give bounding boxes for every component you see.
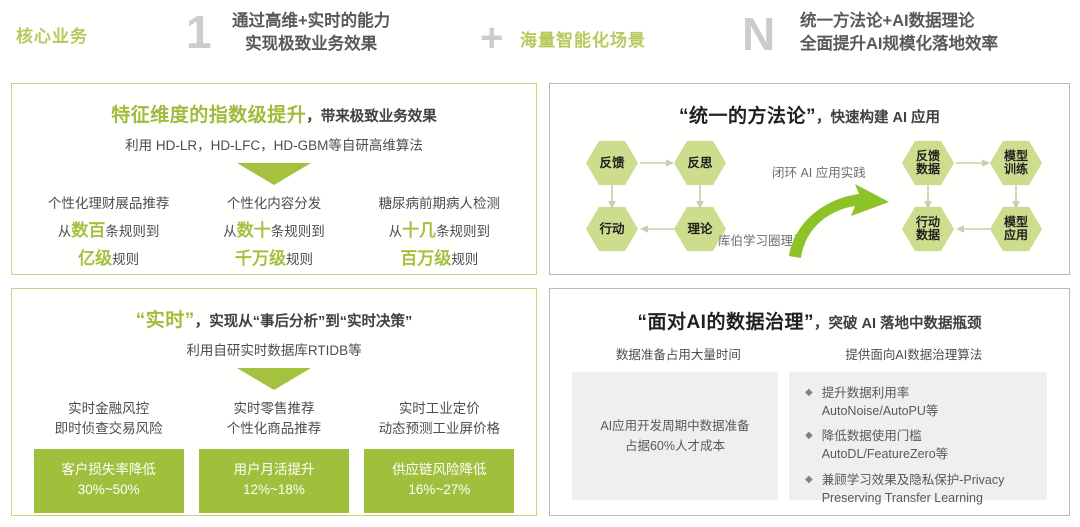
governance-bullet-box: ◆ 提升数据利用率 AutoNoise/AutoPU等 ◆ 降低数据使用门槛 A… bbox=[789, 372, 1047, 500]
feature-column-rule: 从数十条规则到 千万级规则 bbox=[192, 217, 355, 272]
rule-from-prefix: 从 bbox=[58, 224, 72, 239]
diamond-bullet-icon: ◆ bbox=[805, 471, 813, 507]
diamond-bullet-icon: ◆ bbox=[805, 427, 813, 463]
realtime-column-title-line2: 个性化商品推荐 bbox=[192, 419, 355, 439]
arrow-right-icon bbox=[638, 156, 676, 170]
hex-node-model-training[interactable]: 模型训练 bbox=[990, 140, 1042, 186]
feature-column-rule: 从数百条规则到 亿级规则 bbox=[27, 217, 190, 272]
panel-realtime-heading: “实时”，实现从“事后分析”到“实时决策” bbox=[12, 305, 536, 332]
panel-methodology: “统一的方法论”，快速构建 AI 应用 反馈 反思 行动 理论 bbox=[549, 83, 1070, 275]
realtime-column: 实时零售推荐 个性化商品推荐 用户月活提升 12%~18% bbox=[192, 399, 355, 513]
hex-node-reflect[interactable]: 反思 bbox=[674, 140, 726, 186]
panel-governance-heading-strong: “面对AI的数据治理” bbox=[637, 312, 814, 333]
header-numeral-one-text: 1 bbox=[186, 9, 212, 55]
feature-column: 个性化内容分发 从数十条规则到 千万级规则 bbox=[192, 194, 355, 272]
realtime-column: 实时金融风控 即时侦查交易风险 客户损失率降低 30%~50% bbox=[27, 399, 190, 513]
hex-node-model-training-line2: 训练 bbox=[1004, 162, 1028, 176]
panel-methodology-heading-strong: “统一的方法论” bbox=[679, 106, 816, 127]
panel-feature-subheading: 利用 HD-LR，HD-LFC，HD-GBM等自研高维算法 bbox=[12, 134, 536, 154]
governance-subheadings: 数据准备占用大量时间 提供面向AI数据治理算法 bbox=[550, 344, 1069, 363]
hex-node-action-data[interactable]: 行动数据 bbox=[902, 206, 954, 252]
hex-node-action-data-line2: 数据 bbox=[916, 228, 940, 242]
feature-column-title: 个性化理财展品推荐 bbox=[27, 194, 190, 214]
bullet-item: ◆ 兼顾学习效果及隐私保护-Privacy Preserving Transfe… bbox=[805, 471, 1037, 507]
arrow-down-icon bbox=[605, 184, 619, 210]
bullet-text: 提升数据利用率 AutoNoise/AutoPU等 bbox=[822, 384, 939, 420]
realtime-column-title-line1: 实时工业定价 bbox=[358, 399, 521, 419]
panel-methodology-heading-rest: ，快速构建 AI 应用 bbox=[816, 110, 940, 126]
curved-arrow-up-right-icon bbox=[785, 182, 895, 262]
bullet-item: ◆ 提升数据利用率 AutoNoise/AutoPU等 bbox=[805, 384, 1037, 420]
header-numeral-one: 1 bbox=[186, 9, 212, 55]
hex-node-action-data-line1: 行动 bbox=[916, 215, 940, 229]
arrow-left-icon bbox=[954, 222, 992, 236]
header-scenarios-label: 海量智能化场景 bbox=[520, 26, 646, 51]
feature-column-title: 个性化内容分发 bbox=[192, 194, 355, 214]
panel-realtime-heading-strong: “实时” bbox=[136, 310, 195, 331]
rule-from-suffix: 条规则到 bbox=[436, 224, 490, 239]
feature-column: 糖尿病前期病人检测 从十几条规则到 百万级规则 bbox=[358, 194, 521, 272]
panel-realtime: “实时”，实现从“事后分析”到“实时决策” 利用自研实时数据库RTIDB等 实时… bbox=[11, 288, 537, 516]
hex-node-model-apply-line1: 模型 bbox=[1004, 215, 1028, 229]
bullet-text: 兼顾学习效果及隐私保护-Privacy Preserving Transfer … bbox=[822, 471, 1005, 507]
rule-to-big: 百万级 bbox=[400, 249, 451, 268]
header-core-business: 核心业务 bbox=[16, 22, 88, 47]
panel-governance-heading-rest: ，突破 AI 落地中数据瓶颈 bbox=[814, 316, 982, 332]
rule-to-suffix: 规则 bbox=[112, 252, 139, 267]
chip-value: 30%~50% bbox=[38, 480, 180, 501]
arrow-down-icon bbox=[1009, 184, 1023, 210]
down-triangle-icon bbox=[237, 163, 311, 185]
header-methodology-line2: 全面提升AI规模化落地效率 bbox=[800, 33, 998, 56]
down-triangle-icon bbox=[237, 368, 311, 390]
governance-subhead-right: 提供面向AI数据治理算法 bbox=[785, 344, 1043, 363]
header-methodology-text: 统一方法论+AI数据理论 全面提升AI规模化落地效率 bbox=[800, 10, 998, 57]
panel-data-governance: “面对AI的数据治理”，突破 AI 落地中数据瓶颈 数据准备占用大量时间 提供面… bbox=[549, 288, 1070, 516]
panel-methodology-heading: “统一的方法论”，快速构建 AI 应用 bbox=[550, 101, 1069, 128]
header-methodology-line1: 统一方法论+AI数据理论 bbox=[800, 10, 998, 33]
panel-realtime-heading-rest: ，实现从“事后分析”到“实时决策” bbox=[195, 314, 413, 330]
hex-node-reflect-label: 反思 bbox=[687, 156, 712, 170]
chip-label: 用户月活提升 bbox=[203, 460, 345, 481]
arrow-down-icon bbox=[693, 184, 707, 210]
chip-label: 客户损失率降低 bbox=[38, 460, 180, 481]
arrow-left-icon bbox=[638, 222, 676, 236]
methodology-flow-diagram: 反馈 反思 行动 理论 bbox=[550, 134, 1069, 260]
slide-root: 核心业务 1 通过高维+实时的能力 实现极致业务效果 + 海量智能化场景 N 统… bbox=[0, 0, 1080, 527]
realtime-column-title-line2: 动态预测工业屏价格 bbox=[358, 419, 521, 439]
hex-node-feedback-data[interactable]: 反馈数据 bbox=[902, 140, 954, 186]
hex-node-feedback[interactable]: 反馈 bbox=[586, 140, 638, 186]
hex-node-theory-label: 理论 bbox=[687, 222, 712, 236]
header-numeral-n: N bbox=[742, 11, 775, 57]
header-numeral-n-text: N bbox=[742, 11, 775, 57]
panel-feature-heading-strong: 特征维度的指数级提升 bbox=[111, 105, 306, 126]
hex-node-feedback-data-line2: 数据 bbox=[916, 162, 940, 176]
realtime-column: 实时工业定价 动态预测工业屏价格 供应链风险降低 16%~27% bbox=[358, 399, 521, 513]
rule-from-suffix: 条规则到 bbox=[271, 224, 325, 239]
header-capability-line1: 通过高维+实时的能力 bbox=[232, 10, 390, 33]
governance-content-boxes: AI应用开发周期中数据准备 占据60%人才成本 ◆ 提升数据利用率 AutoNo… bbox=[550, 372, 1069, 500]
header-capability-line2: 实现极致业务效果 bbox=[232, 33, 390, 56]
bullet-item: ◆ 降低数据使用门槛 AutoDL/FeatureZero等 bbox=[805, 427, 1037, 463]
panel-feature-heading: 特征维度的指数级提升，带来极致业务效果 bbox=[12, 100, 536, 127]
realtime-result-chip: 供应链风险降低 16%~27% bbox=[364, 449, 514, 514]
header-bar: 核心业务 1 通过高维+实时的能力 实现极致业务效果 + 海量智能化场景 N 统… bbox=[0, 0, 1080, 72]
hex-node-model-apply-line2: 应用 bbox=[1004, 228, 1028, 242]
panel-feature-heading-rest: ，带来极致业务效果 bbox=[306, 109, 437, 125]
rule-to-suffix: 规则 bbox=[451, 252, 478, 267]
hex-node-action-label: 行动 bbox=[599, 222, 624, 236]
panel-realtime-subheading: 利用自研实时数据库RTIDB等 bbox=[12, 339, 536, 359]
realtime-result-chip: 客户损失率降低 30%~50% bbox=[34, 449, 184, 514]
chip-value: 12%~18% bbox=[203, 480, 345, 501]
header-scenarios: 海量智能化场景 bbox=[520, 26, 646, 51]
panel-feature-dimension: 特征维度的指数级提升，带来极致业务效果 利用 HD-LR，HD-LFC，HD-G… bbox=[11, 83, 537, 275]
rule-to-suffix: 规则 bbox=[286, 252, 313, 267]
rule-to-big: 亿级 bbox=[78, 249, 112, 268]
chip-value: 16%~27% bbox=[368, 480, 510, 501]
chip-label: 供应链风险降低 bbox=[368, 460, 510, 481]
closed-loop-caption: 闭环 AI 应用实践 bbox=[772, 162, 866, 181]
hex-node-action[interactable]: 行动 bbox=[586, 206, 638, 252]
feature-column-title: 糖尿病前期病人检测 bbox=[358, 194, 521, 214]
realtime-column-title-line1: 实时金融风控 bbox=[27, 399, 190, 419]
rule-from-prefix: 从 bbox=[223, 224, 237, 239]
plus-icon-glyph: + bbox=[480, 18, 503, 58]
rule-from-big: 数十 bbox=[237, 221, 271, 240]
governance-subhead-left: 数据准备占用大量时间 bbox=[576, 344, 781, 363]
realtime-column-title-line1: 实时零售推荐 bbox=[192, 399, 355, 419]
rule-from-big: 数百 bbox=[71, 221, 105, 240]
realtime-column-title-line2: 即时侦查交易风险 bbox=[27, 419, 190, 439]
plus-icon: + bbox=[480, 18, 503, 58]
hex-node-model-apply[interactable]: 模型应用 bbox=[990, 206, 1042, 252]
rule-to-big: 千万级 bbox=[235, 249, 286, 268]
header-capability-text: 通过高维+实时的能力 实现极致业务效果 bbox=[232, 10, 390, 57]
panel-realtime-columns: 实时金融风控 即时侦查交易风险 客户损失率降低 30%~50% 实时零售推荐 个… bbox=[12, 399, 536, 513]
rule-from-big: 十几 bbox=[402, 221, 436, 240]
rule-from-suffix: 条规则到 bbox=[105, 224, 159, 239]
panel-feature-columns: 个性化理财展品推荐 从数百条规则到 亿级规则 个性化内容分发 从数十条规则到 千… bbox=[12, 194, 536, 272]
bullet-text: 降低数据使用门槛 AutoDL/FeatureZero等 bbox=[822, 427, 948, 463]
feature-column-rule: 从十几条规则到 百万级规则 bbox=[358, 217, 521, 272]
governance-stat-text: AI应用开发周期中数据准备 占据60%人才成本 bbox=[600, 416, 749, 457]
diamond-bullet-icon: ◆ bbox=[805, 384, 813, 420]
hex-node-model-training-line1: 模型 bbox=[1004, 149, 1028, 163]
panel-governance-heading: “面对AI的数据治理”，突破 AI 落地中数据瓶颈 bbox=[550, 307, 1069, 334]
arrow-down-icon bbox=[921, 184, 935, 210]
rule-from-prefix: 从 bbox=[389, 224, 403, 239]
header-core-business-label: 核心业务 bbox=[16, 22, 88, 47]
feature-column: 个性化理财展品推荐 从数百条规则到 亿级规则 bbox=[27, 194, 190, 272]
arrow-right-icon bbox=[954, 156, 992, 170]
realtime-result-chip: 用户月活提升 12%~18% bbox=[199, 449, 349, 514]
hex-node-feedback-label: 反馈 bbox=[599, 156, 624, 170]
hex-node-feedback-data-line1: 反馈 bbox=[916, 149, 940, 163]
governance-stat-box: AI应用开发周期中数据准备 占据60%人才成本 bbox=[572, 372, 778, 500]
